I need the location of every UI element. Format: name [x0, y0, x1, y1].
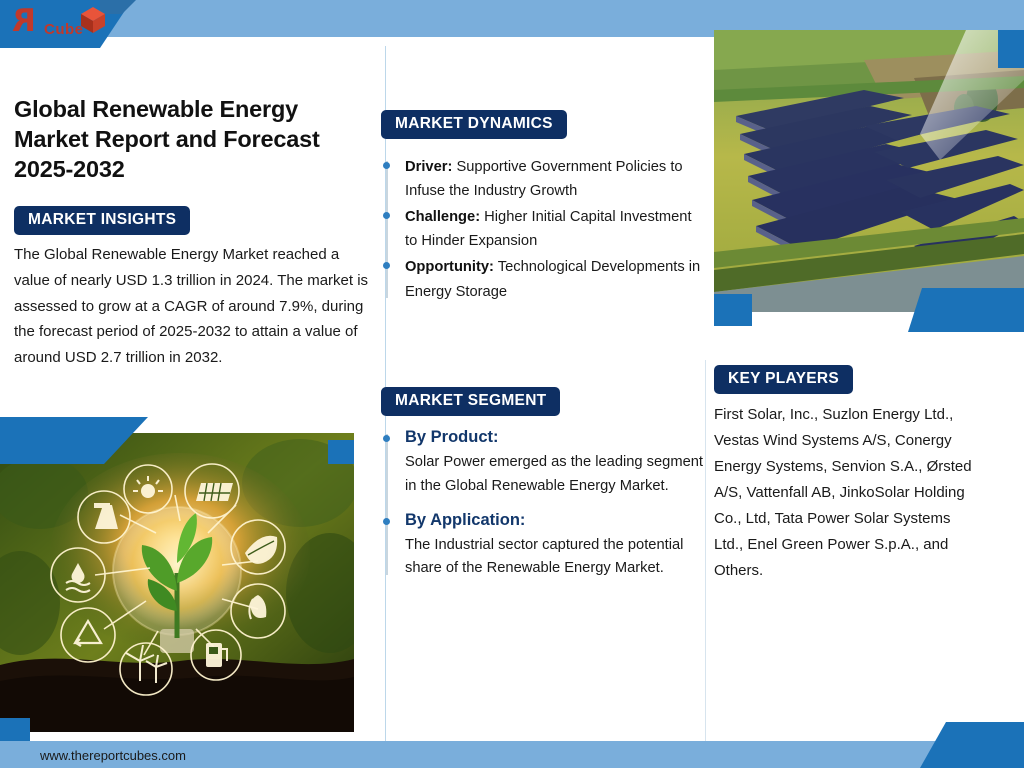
- dynamics-lead: Opportunity:: [405, 259, 494, 275]
- market-dynamics-badge: MARKET DYNAMICS: [381, 110, 567, 139]
- page-title: Global Renewable Energy Market Report an…: [14, 95, 369, 185]
- segment-text: Solar Power emerged as the leading segme…: [405, 451, 703, 499]
- bullet-dot-icon: [383, 518, 390, 525]
- list-item: Opportunity: Technological Developments …: [405, 255, 703, 303]
- key-players-badge: KEY PLAYERS: [714, 365, 853, 394]
- cube-icon: [80, 6, 106, 39]
- dynamics-lead: Challenge:: [405, 209, 480, 225]
- logo-word-cube: Cube: [44, 21, 84, 38]
- hero-bottom-right-shape: [908, 288, 1024, 332]
- segment-heading: By Application:: [405, 511, 703, 530]
- list-item: By Product: Solar Power emerged as the l…: [405, 428, 703, 499]
- bulb-image-accent-square: [328, 440, 354, 464]
- bullet-dot-icon: [383, 262, 390, 269]
- key-players-text: First Solar, Inc., Suzlon Energy Ltd., V…: [714, 402, 972, 584]
- market-dynamics-badge-label: MARKET DYNAMICS: [381, 110, 567, 139]
- market-segment-list: By Product: Solar Power emerged as the l…: [381, 428, 703, 593]
- bullet-dot-icon: [383, 435, 390, 442]
- dynamics-lead: Driver:: [405, 159, 452, 175]
- solar-farm-image: [714, 30, 1024, 312]
- lightbulb-plant-image: [0, 433, 354, 732]
- footer-website-url[interactable]: www.thereportcubes.com: [40, 748, 186, 763]
- logo-letter-r: R: [12, 6, 36, 37]
- market-segment-badge-label: MARKET SEGMENT: [381, 387, 560, 416]
- column-divider-right: [705, 360, 706, 741]
- segment-text: The Industrial sector captured the poten…: [405, 534, 703, 582]
- market-insights-text: The Global Renewable Energy Market reach…: [14, 242, 376, 371]
- segment-heading: By Product:: [405, 428, 703, 447]
- bullet-dot-icon: [383, 212, 390, 219]
- key-players-badge-label: KEY PLAYERS: [714, 365, 853, 394]
- list-item: Driver: Supportive Government Policies t…: [405, 155, 703, 203]
- list-item: Challenge: Higher Initial Capital Invest…: [405, 205, 703, 253]
- market-insights-badge-label: MARKET INSIGHTS: [14, 206, 190, 235]
- bullet-dot-icon: [383, 162, 390, 169]
- market-insights-badge: MARKET INSIGHTS: [14, 206, 190, 235]
- hero-bottom-left-square: [714, 294, 752, 326]
- market-dynamics-list: Driver: Supportive Government Policies t…: [381, 155, 703, 306]
- footer-bottom-right-shape: [920, 722, 1024, 768]
- hero-top-right-square: [998, 30, 1024, 68]
- market-segment-badge: MARKET SEGMENT: [381, 387, 560, 416]
- brand-logo[interactable]: R Cube: [12, 4, 122, 44]
- list-item: By Application: The Industrial sector ca…: [405, 511, 703, 582]
